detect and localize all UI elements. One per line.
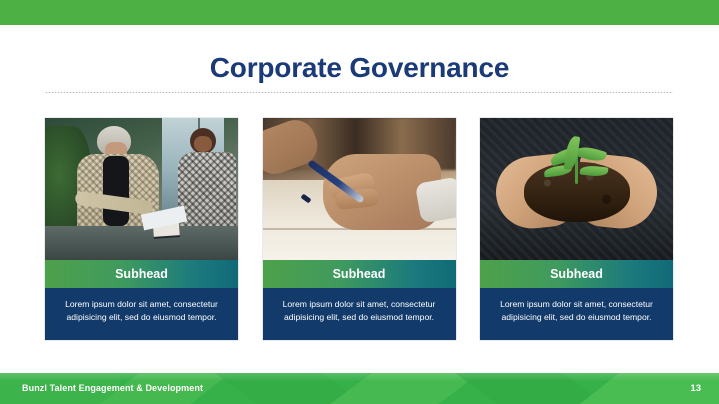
page-title: Corporate Governance (0, 50, 719, 86)
card-body-text: Lorem ipsum dolor sit amet, consectetur … (480, 288, 673, 340)
footer-green-band: Bunzl Talent Engagement & Development 13 (0, 373, 719, 404)
decor-shirt-cuff (414, 176, 455, 223)
decor-desk (45, 226, 238, 260)
slide-canvas: Corporate Governance Subhead (0, 0, 719, 404)
content-card[interactable]: Subhead Lorem ipsum dolor sit amet, cons… (480, 118, 673, 340)
card-body-text: Lorem ipsum dolor sit amet, consectetur … (45, 288, 238, 340)
card-image-hand-signing-document-with-blue-pen (263, 118, 456, 260)
card-row: Subhead Lorem ipsum dolor sit amet, cons… (45, 118, 673, 340)
card-body-text: Lorem ipsum dolor sit amet, consectetur … (263, 288, 456, 340)
title-dotted-divider (45, 92, 673, 93)
card-subhead: Subhead (263, 260, 456, 288)
card-image-hands-holding-soil-with-green-seedling (480, 118, 673, 260)
decor-person1-inner-top (103, 156, 129, 226)
card-subhead: Subhead (45, 260, 238, 288)
content-card[interactable]: Subhead Lorem ipsum dolor sit amet, cons… (45, 118, 238, 340)
card-image-two-women-reviewing-documents-office (45, 118, 238, 260)
content-card[interactable]: Subhead Lorem ipsum dolor sit amet, cons… (263, 118, 456, 340)
footer-label: Bunzl Talent Engagement & Development (22, 373, 203, 404)
decor-person2-face (194, 136, 212, 152)
slide-page-number: 13 (690, 373, 701, 404)
header-green-band (0, 0, 719, 25)
card-subhead: Subhead (480, 260, 673, 288)
